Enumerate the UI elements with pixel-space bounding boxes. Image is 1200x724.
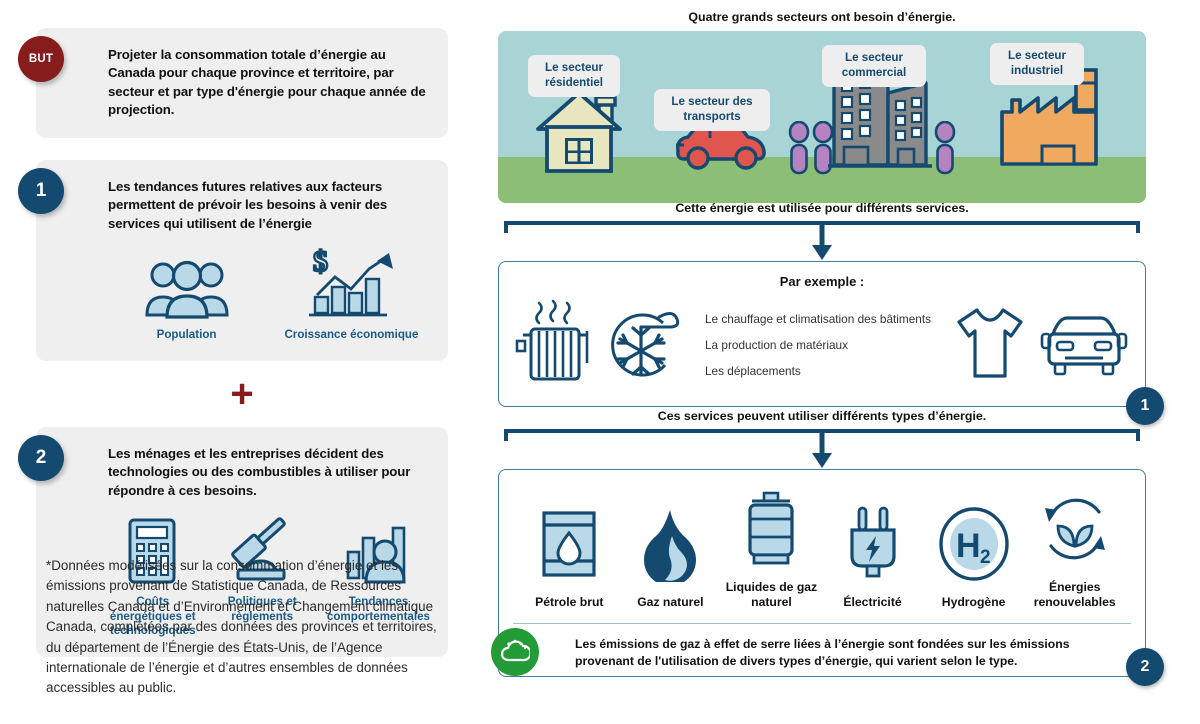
renewables-icon xyxy=(1037,486,1113,572)
crude-oil-icon xyxy=(536,501,602,587)
radiator-icon xyxy=(513,297,597,394)
step-1-card: 1 Les tendances futures relatives aux fa… xyxy=(36,160,448,361)
population-item: Population xyxy=(114,245,259,342)
renewables-label: Énergies renouvelables xyxy=(1024,580,1125,611)
house-illustration xyxy=(532,83,630,175)
goal-text: Projeter la consommation totale d’énergi… xyxy=(108,46,430,120)
goal-badge: BUT xyxy=(18,36,64,82)
services-list: Le chauffage et climatisation des bâtime… xyxy=(697,312,941,380)
connector-2-caption: Ces services peuvent utiliser différents… xyxy=(498,409,1146,423)
infographic-canvas: BUT Projeter la consommation totale d’én… xyxy=(0,0,1200,724)
hydrogen-icon: H 2 xyxy=(936,501,1012,587)
sectors-scene: Le secteur résidentiel Le secteur des tr… xyxy=(498,31,1146,203)
energy-types-row: Pétrole brut Gaz naturel xyxy=(513,482,1131,611)
footnote-text: *Données modélisées sur la consommation … xyxy=(46,556,438,699)
sector-tag-industrial: Le secteur industriel xyxy=(990,43,1084,85)
connector-1: Cette énergie est utilisée pour différen… xyxy=(498,209,1146,261)
connector-1-caption: Cette énergie est utilisée pour différen… xyxy=(498,201,1146,215)
tshirt-icon xyxy=(947,302,1033,389)
energy-types-panel: Pétrole brut Gaz naturel xyxy=(498,469,1146,677)
crude-oil-item: Pétrole brut xyxy=(519,501,620,610)
ngl-icon xyxy=(740,486,802,572)
car-front-icon xyxy=(1039,304,1131,387)
connector-2-arrow xyxy=(809,431,835,474)
natural-gas-item: Gaz naturel xyxy=(620,501,721,610)
step-1-icon-row: Population $ xyxy=(108,245,430,342)
emissions-text: Les émissions de gaz à effet de serre li… xyxy=(575,636,1121,671)
electricity-label: Électricité xyxy=(843,595,901,610)
renewables-item: Énergies renouvelables xyxy=(1024,486,1125,611)
step-1-badge: 1 xyxy=(18,168,64,214)
population-icon xyxy=(141,245,233,321)
svg-text:2: 2 xyxy=(980,547,991,568)
electricity-item: Électricité xyxy=(822,501,923,610)
right-column: Quatre grands secteurs ont besoin d’éner… xyxy=(498,10,1146,677)
economic-growth-item: $ Croissance économique xyxy=(279,245,424,342)
hydrogen-item: H 2 Hydrogène xyxy=(923,501,1024,610)
service-item-heating: Le chauffage et climatisation des bâtime… xyxy=(705,312,933,327)
services-row: Le chauffage et climatisation des bâtime… xyxy=(513,297,1131,394)
services-panel: Par exemple : xyxy=(498,261,1146,407)
person-illustration-single xyxy=(932,121,958,175)
step-2-badge: 2 xyxy=(18,435,64,481)
service-item-travel: Les déplacements xyxy=(705,364,933,379)
natural-gas-label: Gaz naturel xyxy=(637,595,703,610)
ngl-label: Liquides de gaz naturel xyxy=(721,580,822,611)
step-1-text: Les tendances futures relatives aux fact… xyxy=(108,178,430,233)
emissions-note: Les émissions de gaz à effet de serre li… xyxy=(513,623,1131,677)
svg-text:H: H xyxy=(956,527,981,565)
sector-tag-commercial: Le secteur commercial xyxy=(822,45,926,87)
svg-text:$: $ xyxy=(313,245,328,278)
connector-1-arrow xyxy=(809,223,835,266)
natural-gas-icon xyxy=(642,501,698,587)
service-item-materials: La production de matériaux xyxy=(705,338,933,353)
electricity-icon xyxy=(842,501,904,587)
hydrogen-label: Hydrogène xyxy=(942,595,1006,610)
snowflake-cooling-icon xyxy=(603,297,691,394)
sectors-caption: Quatre grands secteurs ont besoin d’éner… xyxy=(498,10,1146,24)
services-title: Par exemple : xyxy=(513,274,1131,289)
step-2-text: Les ménages et les entreprises décident … xyxy=(108,445,430,500)
population-label: Population xyxy=(157,328,217,342)
economic-growth-icon: $ xyxy=(299,245,403,321)
sector-tag-transport: Le secteur des transports xyxy=(654,89,770,131)
crude-oil-label: Pétrole brut xyxy=(535,595,603,610)
ngl-item: Liquides de gaz naturel xyxy=(721,486,822,611)
emissions-badge: 2 xyxy=(1126,648,1164,686)
economic-growth-label: Croissance économique xyxy=(284,328,418,342)
sector-tag-residential: Le secteur résidentiel xyxy=(528,55,620,97)
connector-2: Ces services peuvent utiliser différents… xyxy=(498,417,1146,469)
plus-separator: + xyxy=(36,374,448,414)
emissions-cloud-icon xyxy=(491,628,539,676)
goal-card: BUT Projeter la consommation totale d’én… xyxy=(36,28,448,138)
